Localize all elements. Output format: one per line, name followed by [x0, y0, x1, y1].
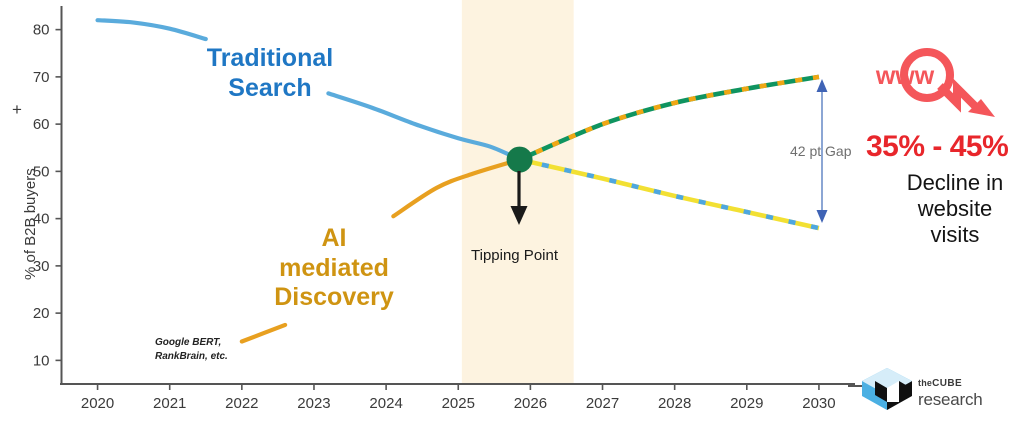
svg-text:20: 20: [33, 305, 50, 322]
svg-text:2023: 2023: [297, 395, 330, 412]
decline-description-line3: visits: [931, 222, 980, 247]
chart-canvas: 1020304050607080 20202021202220232024202…: [0, 0, 1024, 425]
footnote-annotation: Google BERT, RankBrain, etc.: [155, 336, 228, 363]
svg-text:2022: 2022: [225, 395, 258, 412]
tipping-point-marker: [507, 147, 533, 173]
cube-logo-icon: [862, 368, 912, 410]
svg-text:2027: 2027: [586, 395, 619, 412]
svg-text:2024: 2024: [369, 395, 402, 412]
www-icon-text: www: [875, 62, 935, 90]
decline-description: Decline in website visits: [855, 170, 1024, 248]
ai-discovery-label-line1: AI: [322, 224, 347, 252]
logo-research: research: [918, 391, 983, 408]
footnote-line1: Google BERT,: [155, 337, 221, 348]
svg-text:2020: 2020: [81, 395, 114, 412]
svg-text:2026: 2026: [514, 395, 547, 412]
y-axis-plus-symbol: +: [12, 100, 22, 120]
svg-text:60: 60: [33, 116, 50, 133]
y-axis-title: % of B2B buyers: [22, 168, 39, 280]
decline-percent-callout: 35% - 45%: [866, 130, 1008, 164]
x-axis-ticks: 2020202120222023202420252026202720282029…: [81, 384, 836, 412]
traditional-search-label-line2: Search: [228, 74, 311, 102]
svg-text:10: 10: [33, 352, 50, 369]
ai-discovery-line-segment-1: [242, 325, 285, 342]
footnote-line2: RankBrain, etc.: [155, 351, 228, 362]
logo-wordmark: theCUBE research: [918, 374, 983, 408]
tipping-point-label: Tipping Point: [471, 247, 558, 264]
svg-text:80: 80: [33, 22, 50, 39]
svg-text:2021: 2021: [153, 395, 186, 412]
gap-label: 42 pt Gap: [790, 143, 852, 159]
svg-text:2029: 2029: [730, 395, 763, 412]
svg-text:2030: 2030: [802, 395, 835, 412]
svg-text:70: 70: [33, 69, 50, 86]
traditional-search-line-segment-1: [98, 20, 206, 39]
decline-description-line2: website: [918, 196, 993, 221]
logo-cube: CUBE: [932, 378, 962, 389]
www-decline-icon: www: [875, 52, 995, 117]
logo-the: the: [918, 378, 932, 388]
ai-discovery-label: AI mediated Discovery: [264, 224, 404, 313]
svg-text:2028: 2028: [658, 395, 691, 412]
decline-description-line1: Decline in: [907, 170, 1004, 195]
svg-text:2025: 2025: [442, 395, 475, 412]
ai-discovery-label-line3: Discovery: [274, 283, 394, 311]
ai-discovery-label-line2: mediated: [279, 254, 389, 282]
traditional-search-label-line1: Traditional: [207, 44, 333, 72]
traditional-search-label: Traditional Search: [200, 44, 340, 103]
